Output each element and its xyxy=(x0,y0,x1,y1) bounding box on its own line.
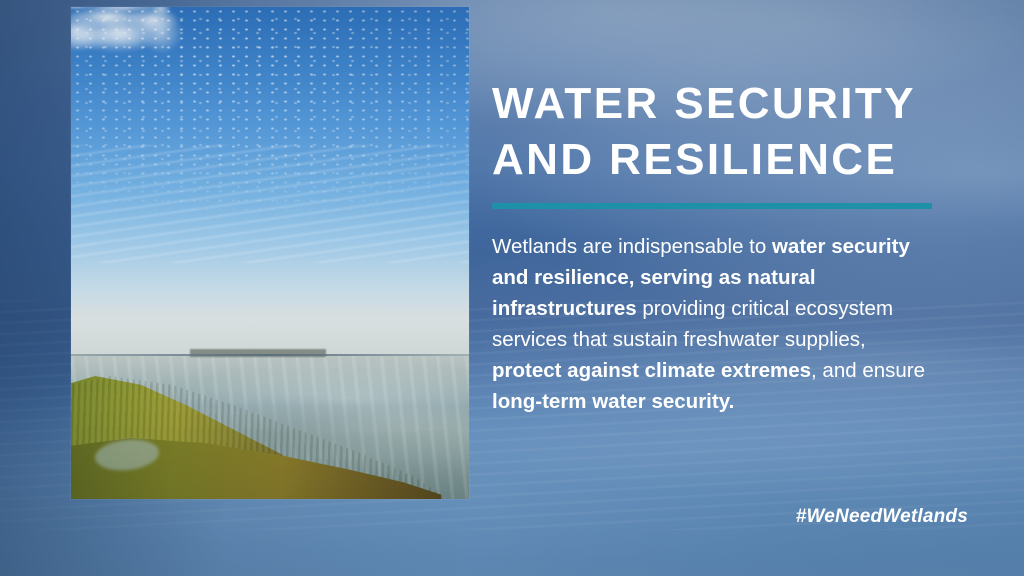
accent-divider xyxy=(492,203,932,209)
body-segment-4-bold: protect against climate extremes xyxy=(492,359,811,382)
photo-tone-overlay xyxy=(71,7,469,499)
text-column: WATER SECURITY AND RESILIENCE Wetlands a… xyxy=(492,76,944,438)
campaign-hashtag: #WeNeedWetlands xyxy=(796,506,968,528)
body-segment-5: , and ensure xyxy=(811,359,925,382)
wetland-photo xyxy=(71,7,469,499)
body-segment-1: Wetlands are indispensable to xyxy=(492,235,772,258)
page-title: WATER SECURITY AND RESILIENCE xyxy=(492,76,944,189)
body-paragraph: Wetlands are indispensable to water secu… xyxy=(492,231,932,418)
body-segment-6-bold: long-term water security. xyxy=(492,390,734,413)
headline-line-1: WATER SECURITY xyxy=(492,76,944,132)
slide-canvas: WATER SECURITY AND RESILIENCE Wetlands a… xyxy=(0,0,1024,576)
headline-line-2: AND RESILIENCE xyxy=(492,132,944,188)
